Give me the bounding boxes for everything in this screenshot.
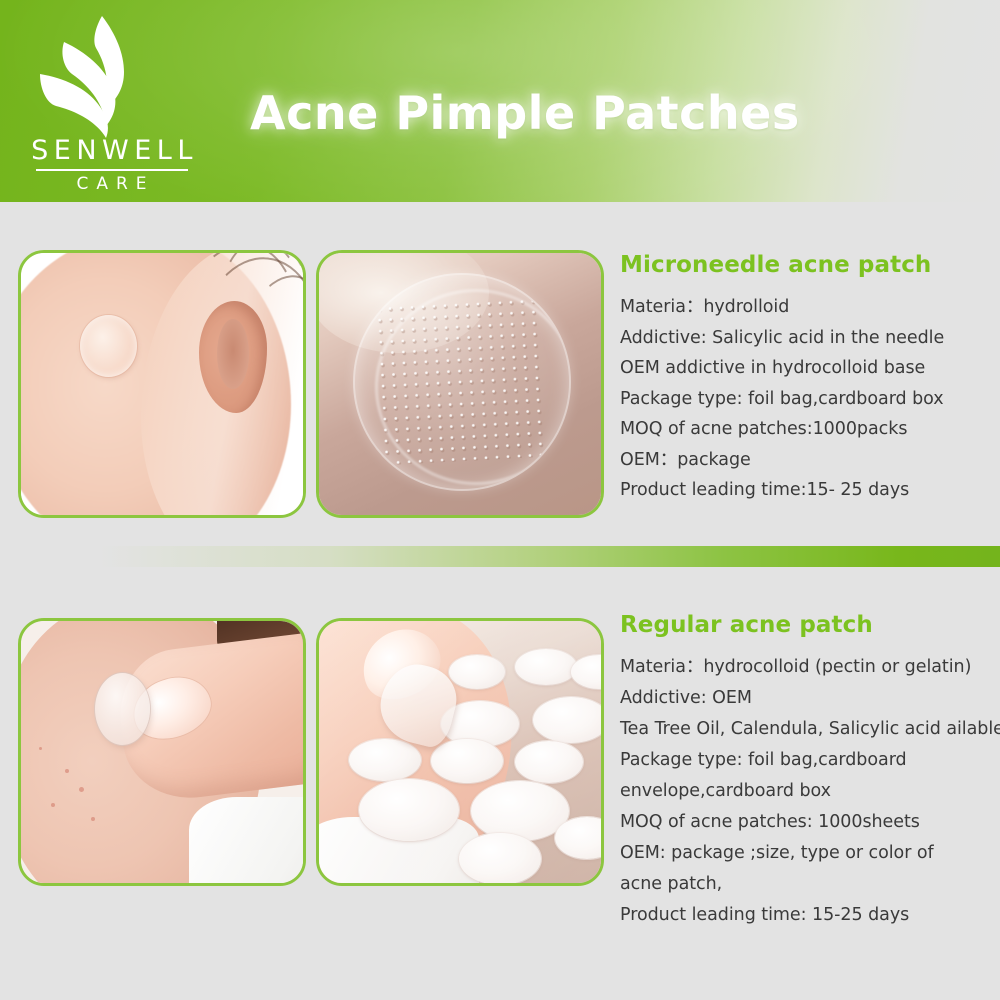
spec-line: OEM addictive in hydrocolloid base — [620, 353, 1000, 384]
section-title-regular: Regular acne patch — [620, 612, 1000, 638]
section-title-microneedle: Microneedle acne patch — [620, 252, 1000, 278]
spec-line: Product leading time: 15-25 days — [620, 900, 1000, 931]
hair-strands — [171, 253, 303, 453]
spec-line: acne patch, — [620, 869, 1000, 900]
spec-block-regular: Regular acne patch Materia：hydrocolloid … — [620, 612, 1000, 931]
logo-wordmark: SENWELL CARE — [24, 136, 200, 194]
header-banner: SENWELL CARE Acne Pimple Patches — [0, 0, 1000, 202]
spec-line: Addictive: Salicylic acid in the needle — [620, 323, 1000, 354]
page-title: Acne Pimple Patches — [250, 86, 950, 140]
logo-divider-rule — [36, 169, 188, 171]
spec-line: MOQ of acne patches: 1000sheets — [620, 807, 1000, 838]
brand-logo: SENWELL CARE — [24, 14, 200, 192]
logo-subtitle: CARE — [24, 175, 200, 194]
scene-microneedle-macro — [319, 253, 601, 515]
spec-line: Product leading time:15- 25 days — [620, 475, 1000, 506]
scene-patch-sheet — [319, 621, 601, 883]
round-acne-patch — [95, 673, 150, 745]
photo-apply-patch — [18, 618, 306, 886]
spec-line: Package type: foil bag,cardboard box — [620, 384, 1000, 415]
spec-line: OEM: package ;size, type or color of — [620, 838, 1000, 869]
scene-cheek-patch — [21, 253, 303, 515]
spec-block-microneedle: Microneedle acne patch Materia：hydrolloi… — [620, 252, 1000, 506]
photo-patch-sheet — [316, 618, 604, 886]
spec-line: Addictive: OEM — [620, 683, 1000, 714]
spec-line: Tea Tree Oil, Calendula, Salicylic acid … — [620, 714, 1000, 745]
spec-line: Materia：hydrocolloid (pectin or gelatin) — [620, 652, 1000, 683]
logo-name: SENWELL — [24, 136, 200, 166]
leaf-flame-mark — [38, 14, 178, 140]
section-divider — [0, 546, 1000, 567]
spec-line: MOQ of acne patches:1000packs — [620, 414, 1000, 445]
spec-line: OEM：package — [620, 445, 1000, 476]
scene-applying-patch — [21, 621, 303, 883]
acne-patch-on-skin — [80, 315, 137, 377]
spec-line: Materia：hydrolloid — [620, 292, 1000, 323]
microneedle-disc — [355, 275, 569, 489]
spec-line: envelope,cardboard box — [620, 776, 1000, 807]
photo-cheek-patch — [18, 250, 306, 518]
spec-line: Package type: foil bag,cardboard — [620, 745, 1000, 776]
photo-microneedle — [316, 250, 604, 518]
